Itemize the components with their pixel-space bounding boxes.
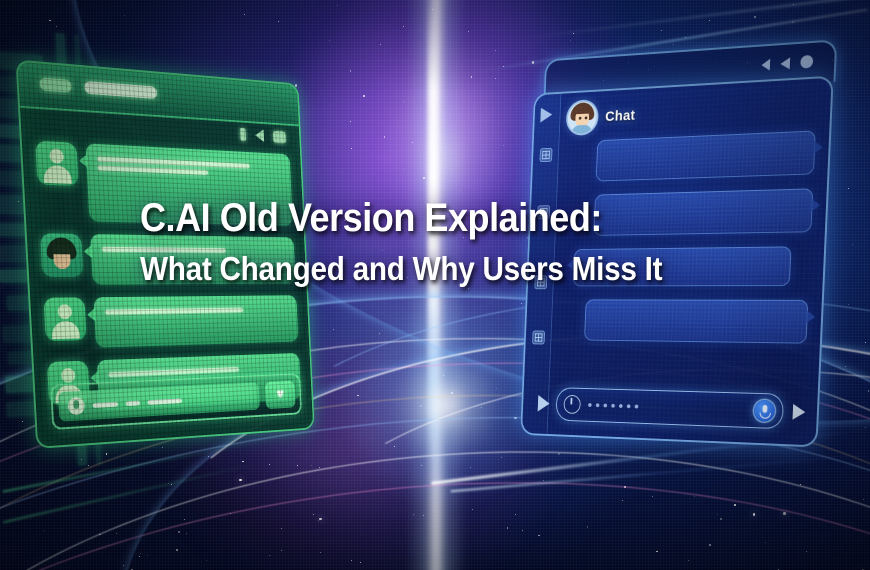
back-triangle-icon[interactable]	[255, 129, 264, 142]
banner-stage: ♥ Ch	[0, 0, 870, 570]
play-triangle-icon[interactable]	[538, 395, 550, 412]
clock-icon[interactable]	[563, 395, 581, 414]
titlebar-pill-large	[84, 81, 157, 99]
minimize-bar-icon[interactable]	[240, 128, 246, 141]
maximize-square-icon[interactable]	[273, 131, 286, 143]
blue-input-bar[interactable]	[537, 386, 806, 431]
green-message-input[interactable]	[58, 382, 260, 421]
blue-window-controls[interactable]	[761, 55, 813, 71]
play-triangle-icon[interactable]	[540, 107, 552, 122]
user-avatar-photo	[40, 233, 83, 277]
headline-line-2: What Changed and Why Users Miss It	[140, 252, 662, 287]
titlebar-pill-small	[39, 77, 71, 92]
input-placeholder-dots	[588, 403, 746, 412]
microphone-icon[interactable]	[68, 397, 85, 415]
chat-header: Chat	[567, 99, 636, 134]
headline-line-1: C.AI Old Version Explained:	[140, 198, 662, 239]
message-bubble[interactable]	[596, 130, 816, 181]
send-triangle-icon[interactable]	[792, 404, 805, 420]
heart-icon[interactable]: ♥	[265, 381, 296, 409]
play-triangle-icon[interactable]	[780, 57, 790, 70]
headline: C.AI Old Version Explained: What Changed…	[140, 198, 720, 286]
green-window-controls[interactable]	[240, 128, 286, 143]
message-bubble[interactable]	[584, 299, 808, 343]
grid-icon[interactable]	[532, 331, 545, 345]
page-title: Chat	[605, 107, 636, 125]
circle-dot-icon[interactable]	[800, 55, 813, 69]
microphone-icon[interactable]	[754, 400, 776, 422]
message-input[interactable]	[556, 387, 785, 429]
grid-icon[interactable]	[540, 148, 553, 162]
message-bubble[interactable]	[93, 295, 298, 347]
user-avatar-silhouette-icon	[35, 141, 78, 186]
chevron-left-icon[interactable]	[761, 58, 770, 70]
user-avatar-silhouette-icon	[44, 297, 87, 341]
character-avatar[interactable]	[567, 101, 597, 134]
list-item[interactable]	[44, 295, 299, 349]
